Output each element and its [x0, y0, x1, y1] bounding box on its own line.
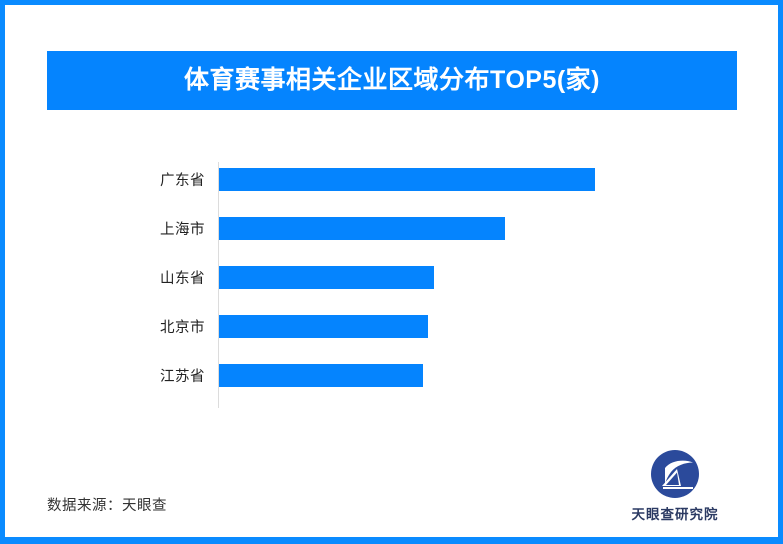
bar-fill[interactable]	[219, 217, 505, 240]
infographic-card: 体育赛事相关企业区域分布TOP5(家) 广东省 上海市 山东省	[0, 0, 783, 544]
bar-category-label: 广东省	[47, 155, 205, 204]
brand-block: 天眼查研究院	[616, 449, 734, 523]
bar-fill[interactable]	[219, 315, 428, 338]
bar-rows-container: 广东省 上海市 山东省 北京市	[47, 155, 737, 400]
data-source-note: 数据来源：天眼查	[47, 494, 167, 515]
bar-category-label: 上海市	[47, 204, 205, 253]
bar-row[interactable]: 广东省	[47, 155, 737, 204]
bar-category-label: 山东省	[47, 253, 205, 302]
bar-fill[interactable]	[219, 168, 595, 191]
bar-chart: 广东省 上海市 山东省 北京市	[47, 155, 737, 415]
bar-row[interactable]: 江苏省	[47, 351, 737, 400]
page-title: 体育赛事相关企业区域分布TOP5(家)	[184, 68, 600, 93]
bar-row[interactable]: 上海市	[47, 204, 737, 253]
bar-fill[interactable]	[219, 266, 434, 289]
bar-track	[219, 351, 737, 400]
brand-name-label: 天眼查研究院	[632, 503, 719, 523]
tianyancha-eagle-logo-icon	[650, 449, 700, 499]
bar-row[interactable]: 山东省	[47, 253, 737, 302]
bar-category-label: 北京市	[47, 302, 205, 351]
bar-track	[219, 253, 737, 302]
bar-category-label: 江苏省	[47, 351, 205, 400]
bar-fill[interactable]	[219, 364, 423, 387]
bar-track	[219, 155, 737, 204]
bar-track	[219, 204, 737, 253]
bar-row[interactable]: 北京市	[47, 302, 737, 351]
title-banner: 体育赛事相关企业区域分布TOP5(家)	[47, 51, 737, 110]
bar-track	[219, 302, 737, 351]
